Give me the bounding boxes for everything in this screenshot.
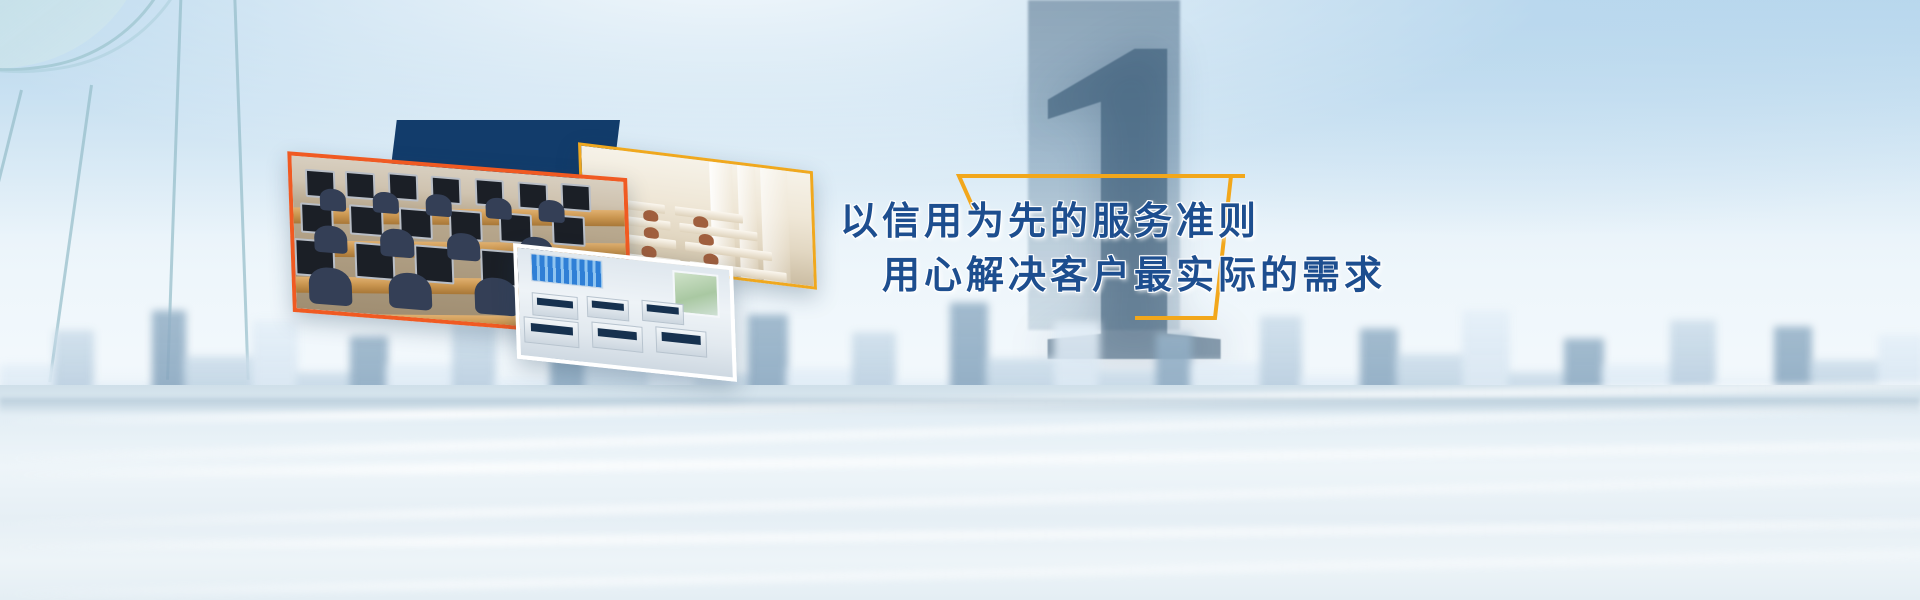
hero-banner: 1 xyxy=(0,0,1920,600)
arch-ring-inner xyxy=(0,0,221,98)
photo-collage xyxy=(280,105,860,395)
foreground-plaza xyxy=(0,385,1920,600)
arch-cable xyxy=(0,90,23,343)
arch-cable xyxy=(48,85,93,382)
arch-cable xyxy=(166,0,183,380)
arch-cable xyxy=(232,0,250,380)
photo-control-room[interactable] xyxy=(513,243,737,382)
arch-disc xyxy=(0,0,169,92)
plaza-edge-shadow xyxy=(0,398,1920,414)
headline-line-1: 以信用为先的服务准则 xyxy=(840,196,1400,250)
headline-block: 以信用为先的服务准则 用心解决客户最实际的需求 xyxy=(840,196,1400,304)
arch-ring-outer xyxy=(0,0,202,95)
headline-line-2: 用心解决客户最实际的需求 xyxy=(840,250,1400,304)
video-wall xyxy=(530,253,603,289)
